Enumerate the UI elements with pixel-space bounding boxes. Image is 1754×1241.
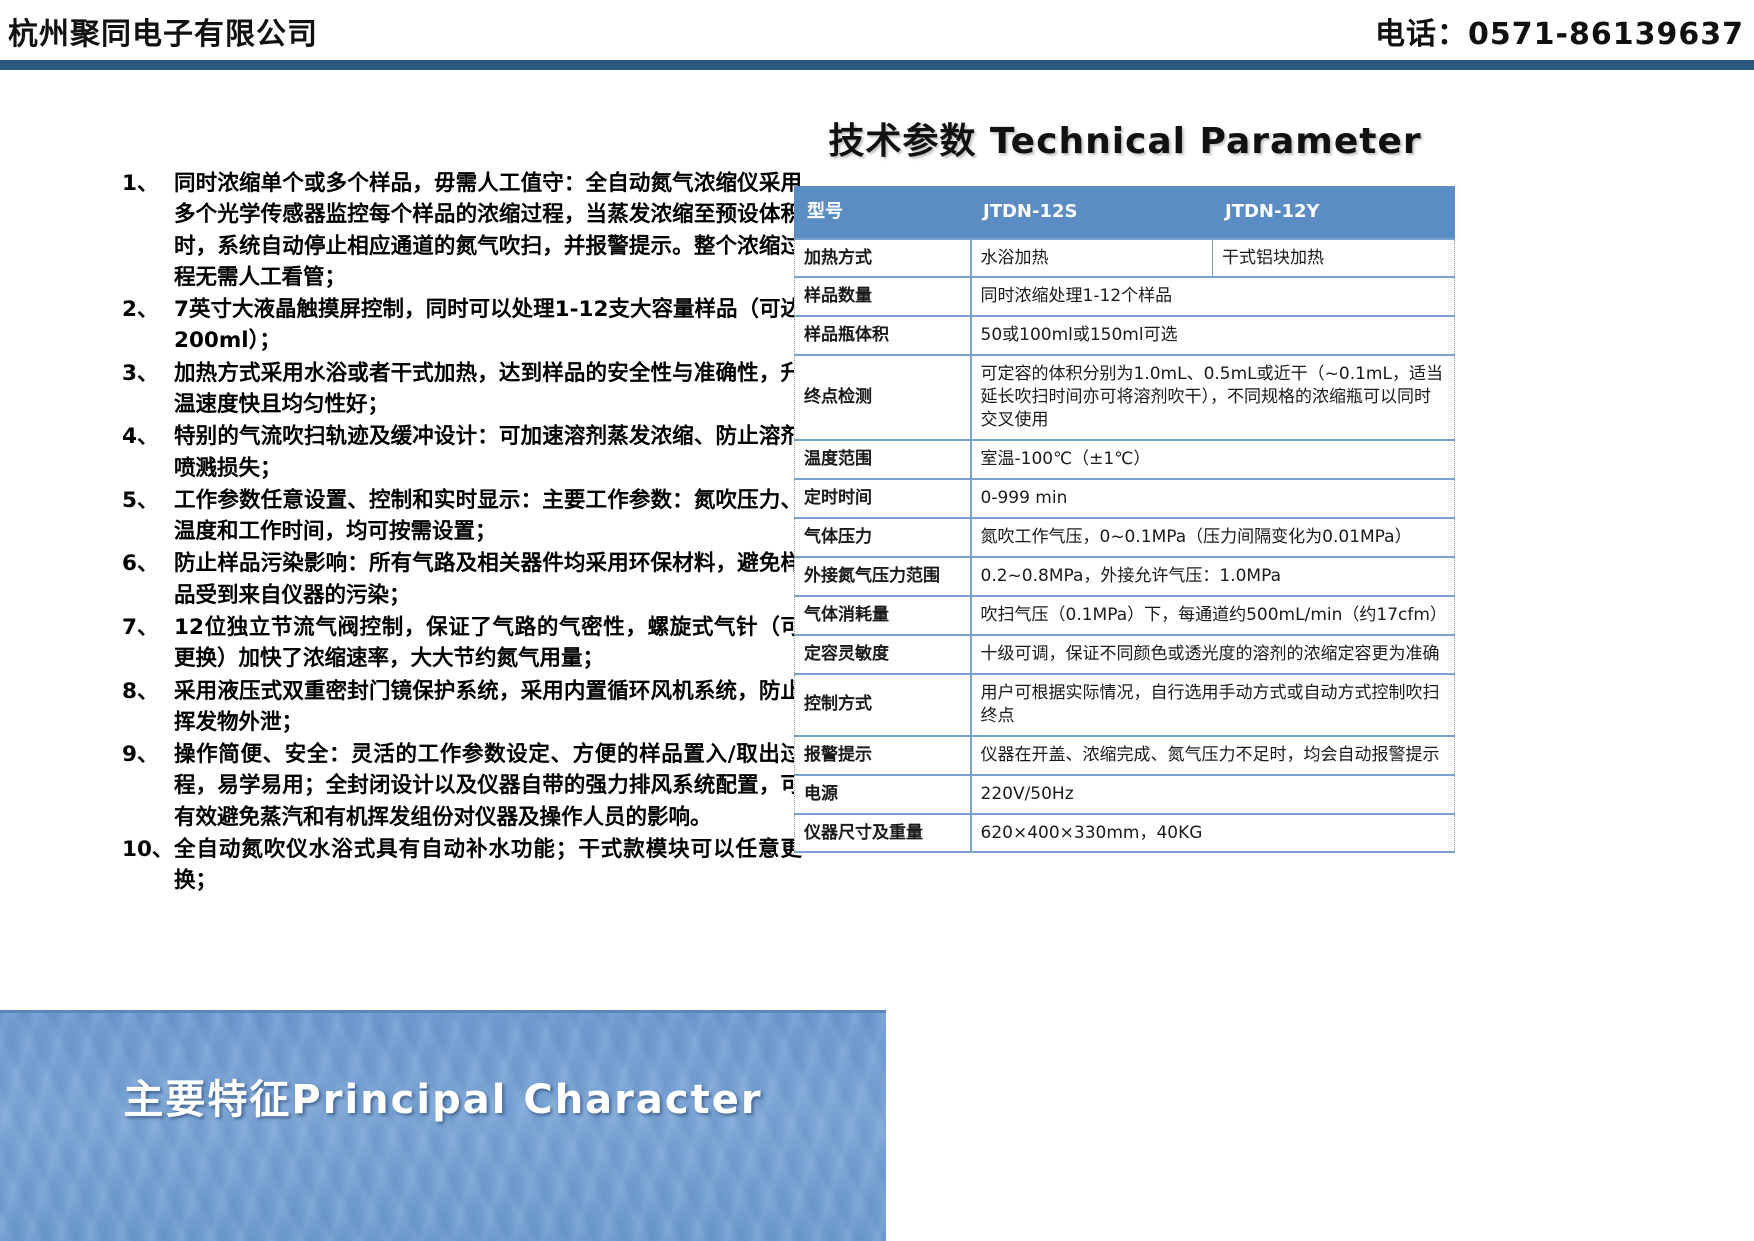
table-row: 气体消耗量 吹扫气压（0.1MPa）下，每通道约500mL/min（约17cfm… bbox=[795, 596, 1455, 635]
list-item: 9、 操作简便、安全：灵活的工作参数设定、方便的样品置入/取出过程，易学易用；全… bbox=[122, 739, 802, 833]
row-label: 控制方式 bbox=[795, 674, 971, 736]
row-value-merged: 用户可根据实际情况，自行选用手动方式或自动方式控制吹扫终点 bbox=[971, 674, 1455, 736]
list-item-text: 操作简便、安全：灵活的工作参数设定、方便的样品置入/取出过程，易学易用；全封闭设… bbox=[174, 739, 802, 833]
table-row: 样品数量 同时浓缩处理1-12个样品 bbox=[795, 277, 1455, 316]
list-item-text: 采用液压式双重密封门镜保护系统，采用内置循环风机系统，防止挥发物外泄； bbox=[174, 676, 802, 739]
row-value-merged: 同时浓缩处理1-12个样品 bbox=[971, 277, 1455, 316]
page-header: 杭州聚同电子有限公司 电话：0571-86139637 bbox=[0, 0, 1754, 62]
row-label: 终点检测 bbox=[795, 355, 971, 440]
table-header-row: 型号 JTDN-12S JTDN-12Y bbox=[795, 187, 1455, 239]
list-item-text: 7英寸大液晶触摸屏控制，同时可以处理1-12支大容量样品（可达200ml）； bbox=[174, 294, 802, 357]
list-item: 8、 采用液压式双重密封门镜保护系统，采用内置循环风机系统，防止挥发物外泄； bbox=[122, 676, 802, 739]
row-value-merged: 620×400×330mm，40KG bbox=[971, 814, 1455, 853]
list-item-number: 8、 bbox=[122, 676, 174, 739]
column-header-jtdn12y: JTDN-12Y bbox=[1213, 187, 1455, 239]
row-value-merged: 0.2~0.8MPa，外接允许气压：1.0MPa bbox=[971, 557, 1455, 596]
list-item: 4、 特别的气流吹扫轨迹及缓冲设计：可加速溶剂蒸发浓缩、防止溶剂喷溅损失； bbox=[122, 421, 802, 484]
table-row: 控制方式 用户可根据实际情况，自行选用手动方式或自动方式控制吹扫终点 bbox=[795, 674, 1455, 736]
table-row: 外接氮气压力范围 0.2~0.8MPa，外接允许气压：1.0MPa bbox=[795, 557, 1455, 596]
row-label: 温度范围 bbox=[795, 440, 971, 479]
list-item: 10、 全自动氮吹仪水浴式具有自动补水功能；干式款模块可以任意更换； bbox=[122, 834, 802, 897]
column-header-model: 型号 bbox=[795, 187, 971, 239]
table-row: 样品瓶体积 50或100ml或150ml可选 bbox=[795, 316, 1455, 355]
row-label: 定时时间 bbox=[795, 479, 971, 518]
contact-phone: 电话：0571-86139637 bbox=[1375, 9, 1744, 53]
column-header-jtdn12s: JTDN-12S bbox=[971, 187, 1213, 239]
list-item: 2、 7英寸大液晶触摸屏控制，同时可以处理1-12支大容量样品（可达200ml）… bbox=[122, 294, 802, 357]
table-row: 定容灵敏度 十级可调，保证不同颜色或透光度的溶剂的浓缩定容更为准确 bbox=[795, 635, 1455, 674]
row-label: 外接氮气压力范围 bbox=[795, 557, 971, 596]
list-item: 7、 12位独立节流气阀控制，保证了气路的气密性，螺旋式气针（可更换）加快了浓缩… bbox=[122, 612, 802, 675]
row-value-merged: 十级可调，保证不同颜色或透光度的溶剂的浓缩定容更为准确 bbox=[971, 635, 1455, 674]
row-value-12y: 干式铝块加热 bbox=[1213, 239, 1455, 278]
list-item-text: 全自动氮吹仪水浴式具有自动补水功能；干式款模块可以任意更换； bbox=[174, 834, 802, 897]
row-label: 仪器尺寸及重量 bbox=[795, 814, 971, 853]
table-row: 气体压力 氮吹工作气压，0~0.1MPa（压力间隔变化为0.01MPa） bbox=[795, 518, 1455, 557]
list-item: 1、 同时浓缩单个或多个样品，毋需人工值守：全自动氮气浓缩仪采用多个光学传感器监… bbox=[122, 168, 802, 293]
row-label: 样品数量 bbox=[795, 277, 971, 316]
row-value-merged: 室温-100℃（±1℃） bbox=[971, 440, 1455, 479]
technical-parameter-table: 型号 JTDN-12S JTDN-12Y 加热方式 水浴加热 干式铝块加热 样品… bbox=[794, 186, 1455, 853]
table-row: 定时时间 0-999 min bbox=[795, 479, 1455, 518]
principal-character-banner: 主要特征Principal Character bbox=[0, 1010, 886, 1241]
row-value-merged: 仪器在开盖、浓缩完成、氮气压力不足时，均会自动报警提示 bbox=[971, 736, 1455, 775]
principal-features-list: 1、 同时浓缩单个或多个样品，毋需人工值守：全自动氮气浓缩仪采用多个光学传感器监… bbox=[122, 168, 802, 897]
row-value-merged: 可定容的体积分别为1.0mL、0.5mL或近干（~0.1mL，适当延长吹扫时间亦… bbox=[971, 355, 1455, 440]
list-item-number: 1、 bbox=[122, 168, 174, 293]
row-label: 定容灵敏度 bbox=[795, 635, 971, 674]
list-item-text: 同时浓缩单个或多个样品，毋需人工值守：全自动氮气浓缩仪采用多个光学传感器监控每个… bbox=[174, 168, 802, 293]
row-value-merged: 50或100ml或150ml可选 bbox=[971, 316, 1455, 355]
table-row: 终点检测 可定容的体积分别为1.0mL、0.5mL或近干（~0.1mL，适当延长… bbox=[795, 355, 1455, 440]
list-item-text: 防止样品污染影响：所有气路及相关器件均采用环保材料，避免样品受到来自仪器的污染； bbox=[174, 548, 802, 611]
technical-parameter-title: 技术参数 Technical Parameter bbox=[800, 112, 1450, 164]
list-item-number: 7、 bbox=[122, 612, 174, 675]
list-item-number: 5、 bbox=[122, 485, 174, 548]
row-value-merged: 氮吹工作气压，0~0.1MPa（压力间隔变化为0.01MPa） bbox=[971, 518, 1455, 557]
list-item-text: 12位独立节流气阀控制，保证了气路的气密性，螺旋式气针（可更换）加快了浓缩速率，… bbox=[174, 612, 802, 675]
list-item-number: 9、 bbox=[122, 739, 174, 833]
row-value-merged: 0-999 min bbox=[971, 479, 1455, 518]
table-row: 电源 220V/50Hz bbox=[795, 775, 1455, 814]
list-item-number: 2、 bbox=[122, 294, 174, 357]
row-label: 报警提示 bbox=[795, 736, 971, 775]
list-item-number: 3、 bbox=[122, 358, 174, 421]
table-row: 温度范围 室温-100℃（±1℃） bbox=[795, 440, 1455, 479]
list-item-number: 6、 bbox=[122, 548, 174, 611]
list-item-text: 特别的气流吹扫轨迹及缓冲设计：可加速溶剂蒸发浓缩、防止溶剂喷溅损失； bbox=[174, 421, 802, 484]
row-value-merged: 220V/50Hz bbox=[971, 775, 1455, 814]
row-label: 气体消耗量 bbox=[795, 596, 971, 635]
list-item-text: 工作参数任意设置、控制和实时显示：主要工作参数：氮吹压力、温度和工作时间，均可按… bbox=[174, 485, 802, 548]
list-item: 5、 工作参数任意设置、控制和实时显示：主要工作参数：氮吹压力、温度和工作时间，… bbox=[122, 485, 802, 548]
table-row: 仪器尺寸及重量 620×400×330mm，40KG bbox=[795, 814, 1455, 853]
list-item-number: 10、 bbox=[122, 834, 174, 897]
header-divider-bar bbox=[0, 60, 1754, 70]
list-item-text: 加热方式采用水浴或者干式加热，达到样品的安全性与准确性，升温速度快且均匀性好； bbox=[174, 358, 802, 421]
company-name: 杭州聚同电子有限公司 bbox=[8, 9, 318, 53]
table-row: 加热方式 水浴加热 干式铝块加热 bbox=[795, 239, 1455, 278]
banner-title: 主要特征Principal Character bbox=[0, 1067, 886, 1125]
list-item: 6、 防止样品污染影响：所有气路及相关器件均采用环保材料，避免样品受到来自仪器的… bbox=[122, 548, 802, 611]
list-item-number: 4、 bbox=[122, 421, 174, 484]
row-label: 气体压力 bbox=[795, 518, 971, 557]
row-label: 电源 bbox=[795, 775, 971, 814]
table-row: 报警提示 仪器在开盖、浓缩完成、氮气压力不足时，均会自动报警提示 bbox=[795, 736, 1455, 775]
row-value-merged: 吹扫气压（0.1MPa）下，每通道约500mL/min（约17cfm） bbox=[971, 596, 1455, 635]
row-label: 样品瓶体积 bbox=[795, 316, 971, 355]
list-item: 3、 加热方式采用水浴或者干式加热，达到样品的安全性与准确性，升温速度快且均匀性… bbox=[122, 358, 802, 421]
row-value-12s: 水浴加热 bbox=[971, 239, 1213, 278]
row-label: 加热方式 bbox=[795, 239, 971, 278]
